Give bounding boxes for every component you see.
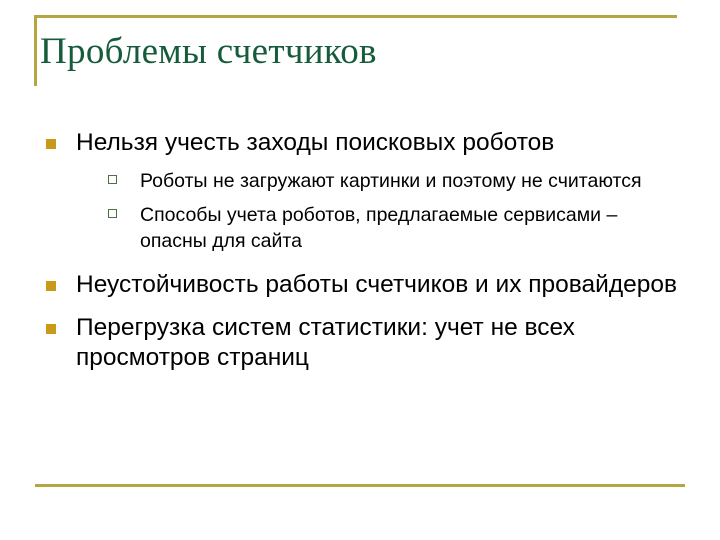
bullet-level1-text: Неустойчивость работы счетчиков и их про…	[76, 270, 680, 300]
filled-square-bullet-icon	[46, 139, 56, 149]
left-gold-rule	[34, 15, 37, 86]
bullet-level2: Роботы не загружают картинки и поэтому н…	[108, 168, 680, 194]
bottom-gold-rule	[35, 484, 685, 487]
filled-square-bullet-icon	[46, 324, 56, 334]
filled-square-bullet-icon	[46, 281, 56, 291]
bullet-level2-text: Роботы не загружают картинки и поэтому н…	[140, 168, 680, 194]
hollow-square-bullet-icon	[108, 175, 117, 184]
bullet-level1-text: Нельзя учесть заходы поисковых роботов	[76, 128, 680, 158]
bullet-level1-text: Перегрузка систем статистики: учет не вс…	[76, 313, 680, 373]
presentation-slide: Проблемы счетчиков Нельзя учесть заходы …	[0, 0, 720, 540]
bullet-level1: Неустойчивость работы счетчиков и их про…	[40, 270, 680, 300]
slide-title: Проблемы счетчиков	[40, 29, 680, 75]
bullet-level1: Перегрузка систем статистики: учет не вс…	[40, 313, 680, 373]
hollow-square-bullet-icon	[108, 209, 117, 218]
slide-body-outline: Нельзя учесть заходы поисковых роботов Р…	[40, 128, 680, 375]
bullet-level1: Нельзя учесть заходы поисковых роботов Р…	[40, 128, 680, 254]
top-gold-rule	[34, 15, 677, 18]
bullet-level2-text: Способы учета роботов, предлагаемые серв…	[140, 202, 680, 254]
bullet-level2: Способы учета роботов, предлагаемые серв…	[108, 202, 680, 254]
sub-bullet-list: Роботы не загружают картинки и поэтому н…	[76, 168, 680, 254]
